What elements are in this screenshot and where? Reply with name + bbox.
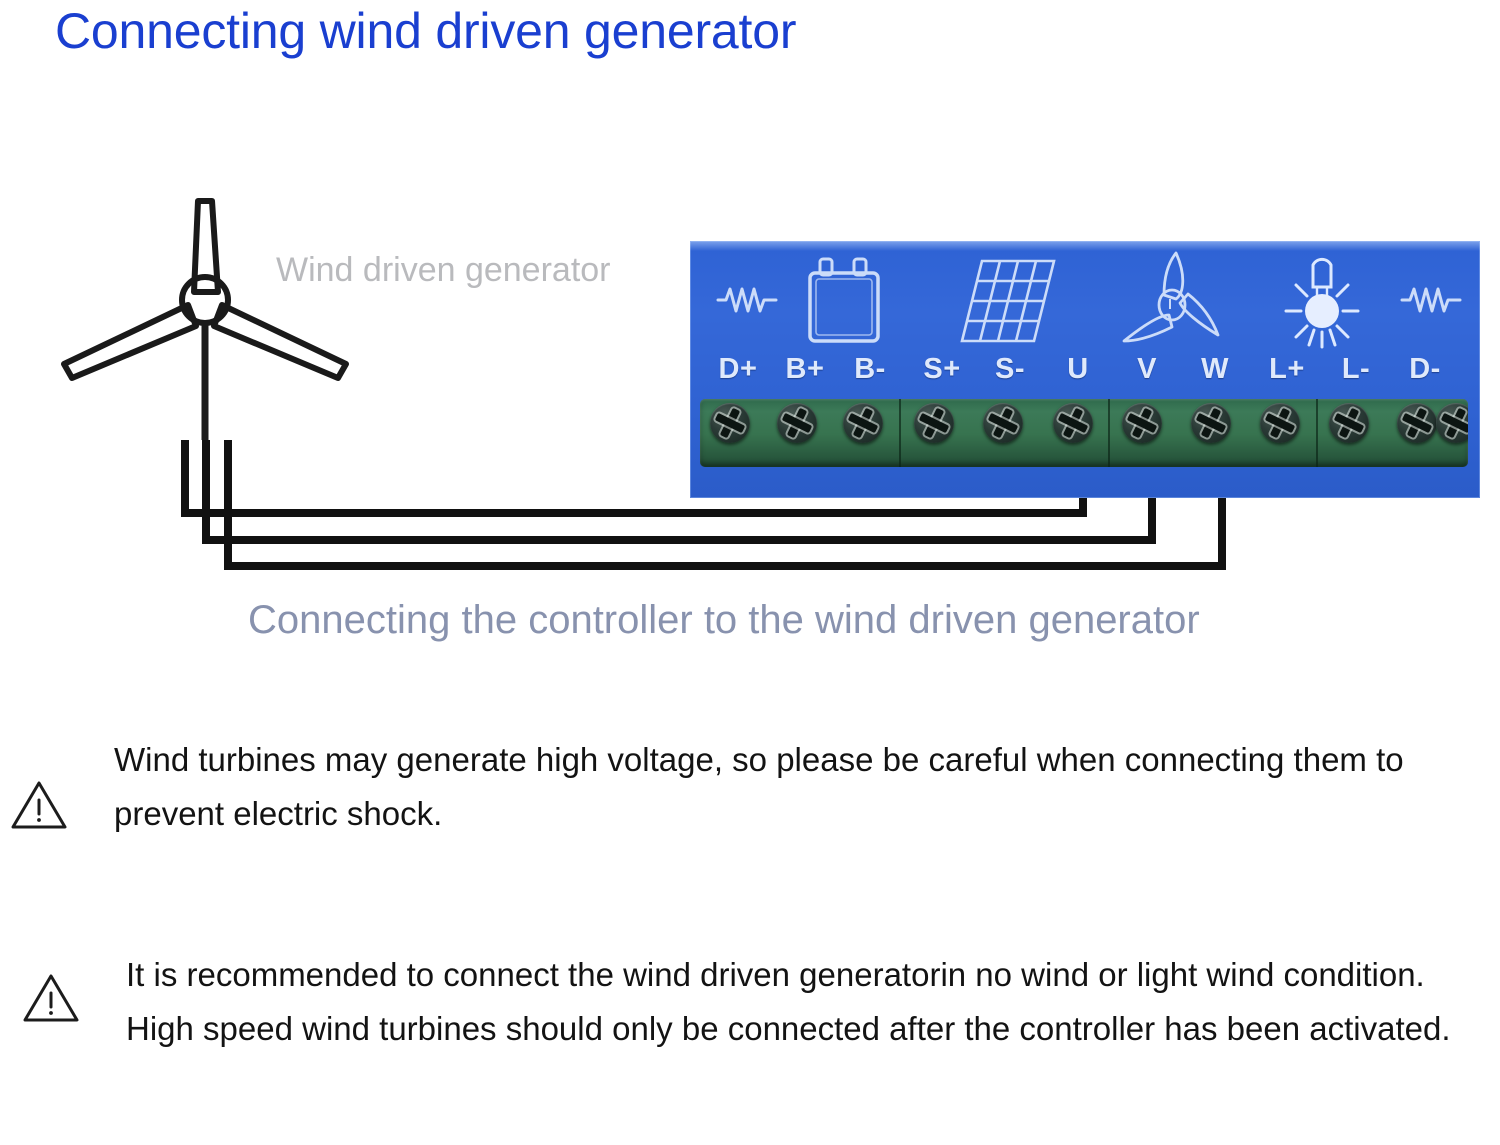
terminal-block-separator: [899, 399, 901, 467]
turbine-blade-left: [64, 305, 196, 378]
warning-paragraph: High speed wind turbines should only be …: [126, 1002, 1462, 1056]
terminal-label-s-plus: S+: [912, 353, 972, 386]
terminal-label-row: D+ B+ B- S+ S- U V W L+ L- D-: [690, 353, 1480, 393]
warning-paragraph: Wind turbines may generate high voltage,…: [114, 733, 1480, 841]
terminal-screw[interactable]: [914, 403, 954, 443]
solar-panel-icon: [958, 257, 1062, 351]
resistor-icon: [1400, 283, 1462, 317]
warning-triangle-icon: [10, 779, 68, 831]
terminal-screw[interactable]: [1191, 403, 1231, 443]
terminal-screw[interactable]: [1122, 403, 1162, 443]
turbine-hub: [182, 277, 228, 323]
terminal-screw[interactable]: [1329, 403, 1369, 443]
terminal-label-b-plus: B+: [775, 353, 835, 386]
terminal-screw[interactable]: [1397, 403, 1437, 443]
warning-note: Wind turbines may generate high voltage,…: [10, 733, 1480, 841]
terminal-block-separator: [1316, 399, 1318, 467]
terminal-label-l-plus: L+: [1257, 353, 1317, 386]
terminal-label-s-minus: S-: [980, 353, 1040, 386]
terminal-label-v: V: [1117, 353, 1177, 386]
terminal-screw[interactable]: [983, 403, 1023, 443]
turbine-label: Wind driven generator: [276, 251, 611, 290]
terminal-screw[interactable]: [1053, 403, 1093, 443]
diagram-caption: Connecting the controller to the wind dr…: [248, 598, 1200, 643]
turbine-blade-right: [214, 305, 346, 378]
panel-icon-row: [690, 249, 1480, 357]
battery-icon: [804, 255, 884, 347]
terminal-label-d-plus: D+: [708, 353, 768, 386]
terminal-screw[interactable]: [777, 403, 817, 443]
terminal-label-u: U: [1048, 353, 1108, 386]
warning-note-text: Wind turbines may generate high voltage,…: [68, 733, 1480, 841]
warning-note-text: It is recommended to connect the wind dr…: [80, 948, 1462, 1056]
warning-triangle-icon: [22, 972, 80, 1024]
terminal-label-d-minus: D-: [1395, 353, 1455, 386]
terminal-screw[interactable]: [710, 403, 750, 443]
light-bulb-icon: [1280, 253, 1364, 353]
warning-note: It is recommended to connect the wind dr…: [22, 948, 1462, 1056]
terminal-screw[interactable]: [1260, 403, 1300, 443]
terminal-label-l-minus: L-: [1326, 353, 1386, 386]
terminal-screw[interactable]: [1436, 403, 1468, 443]
terminal-strip: [700, 399, 1468, 467]
resistor-icon: [716, 283, 778, 317]
wind-turbine-icon: [1114, 249, 1226, 357]
terminal-label-w: W: [1185, 353, 1245, 386]
warning-paragraph: It is recommended to connect the wind dr…: [126, 948, 1462, 1002]
terminal-block-separator: [1108, 399, 1110, 467]
controller-panel: D+ B+ B- S+ S- U V W L+ L- D-: [690, 241, 1480, 498]
terminal-label-b-minus: B-: [840, 353, 900, 386]
page-root: Connecting wind driven generator Wind dr…: [0, 0, 1500, 1145]
terminal-screw[interactable]: [843, 403, 883, 443]
wind-turbine-illustration: [64, 201, 346, 440]
